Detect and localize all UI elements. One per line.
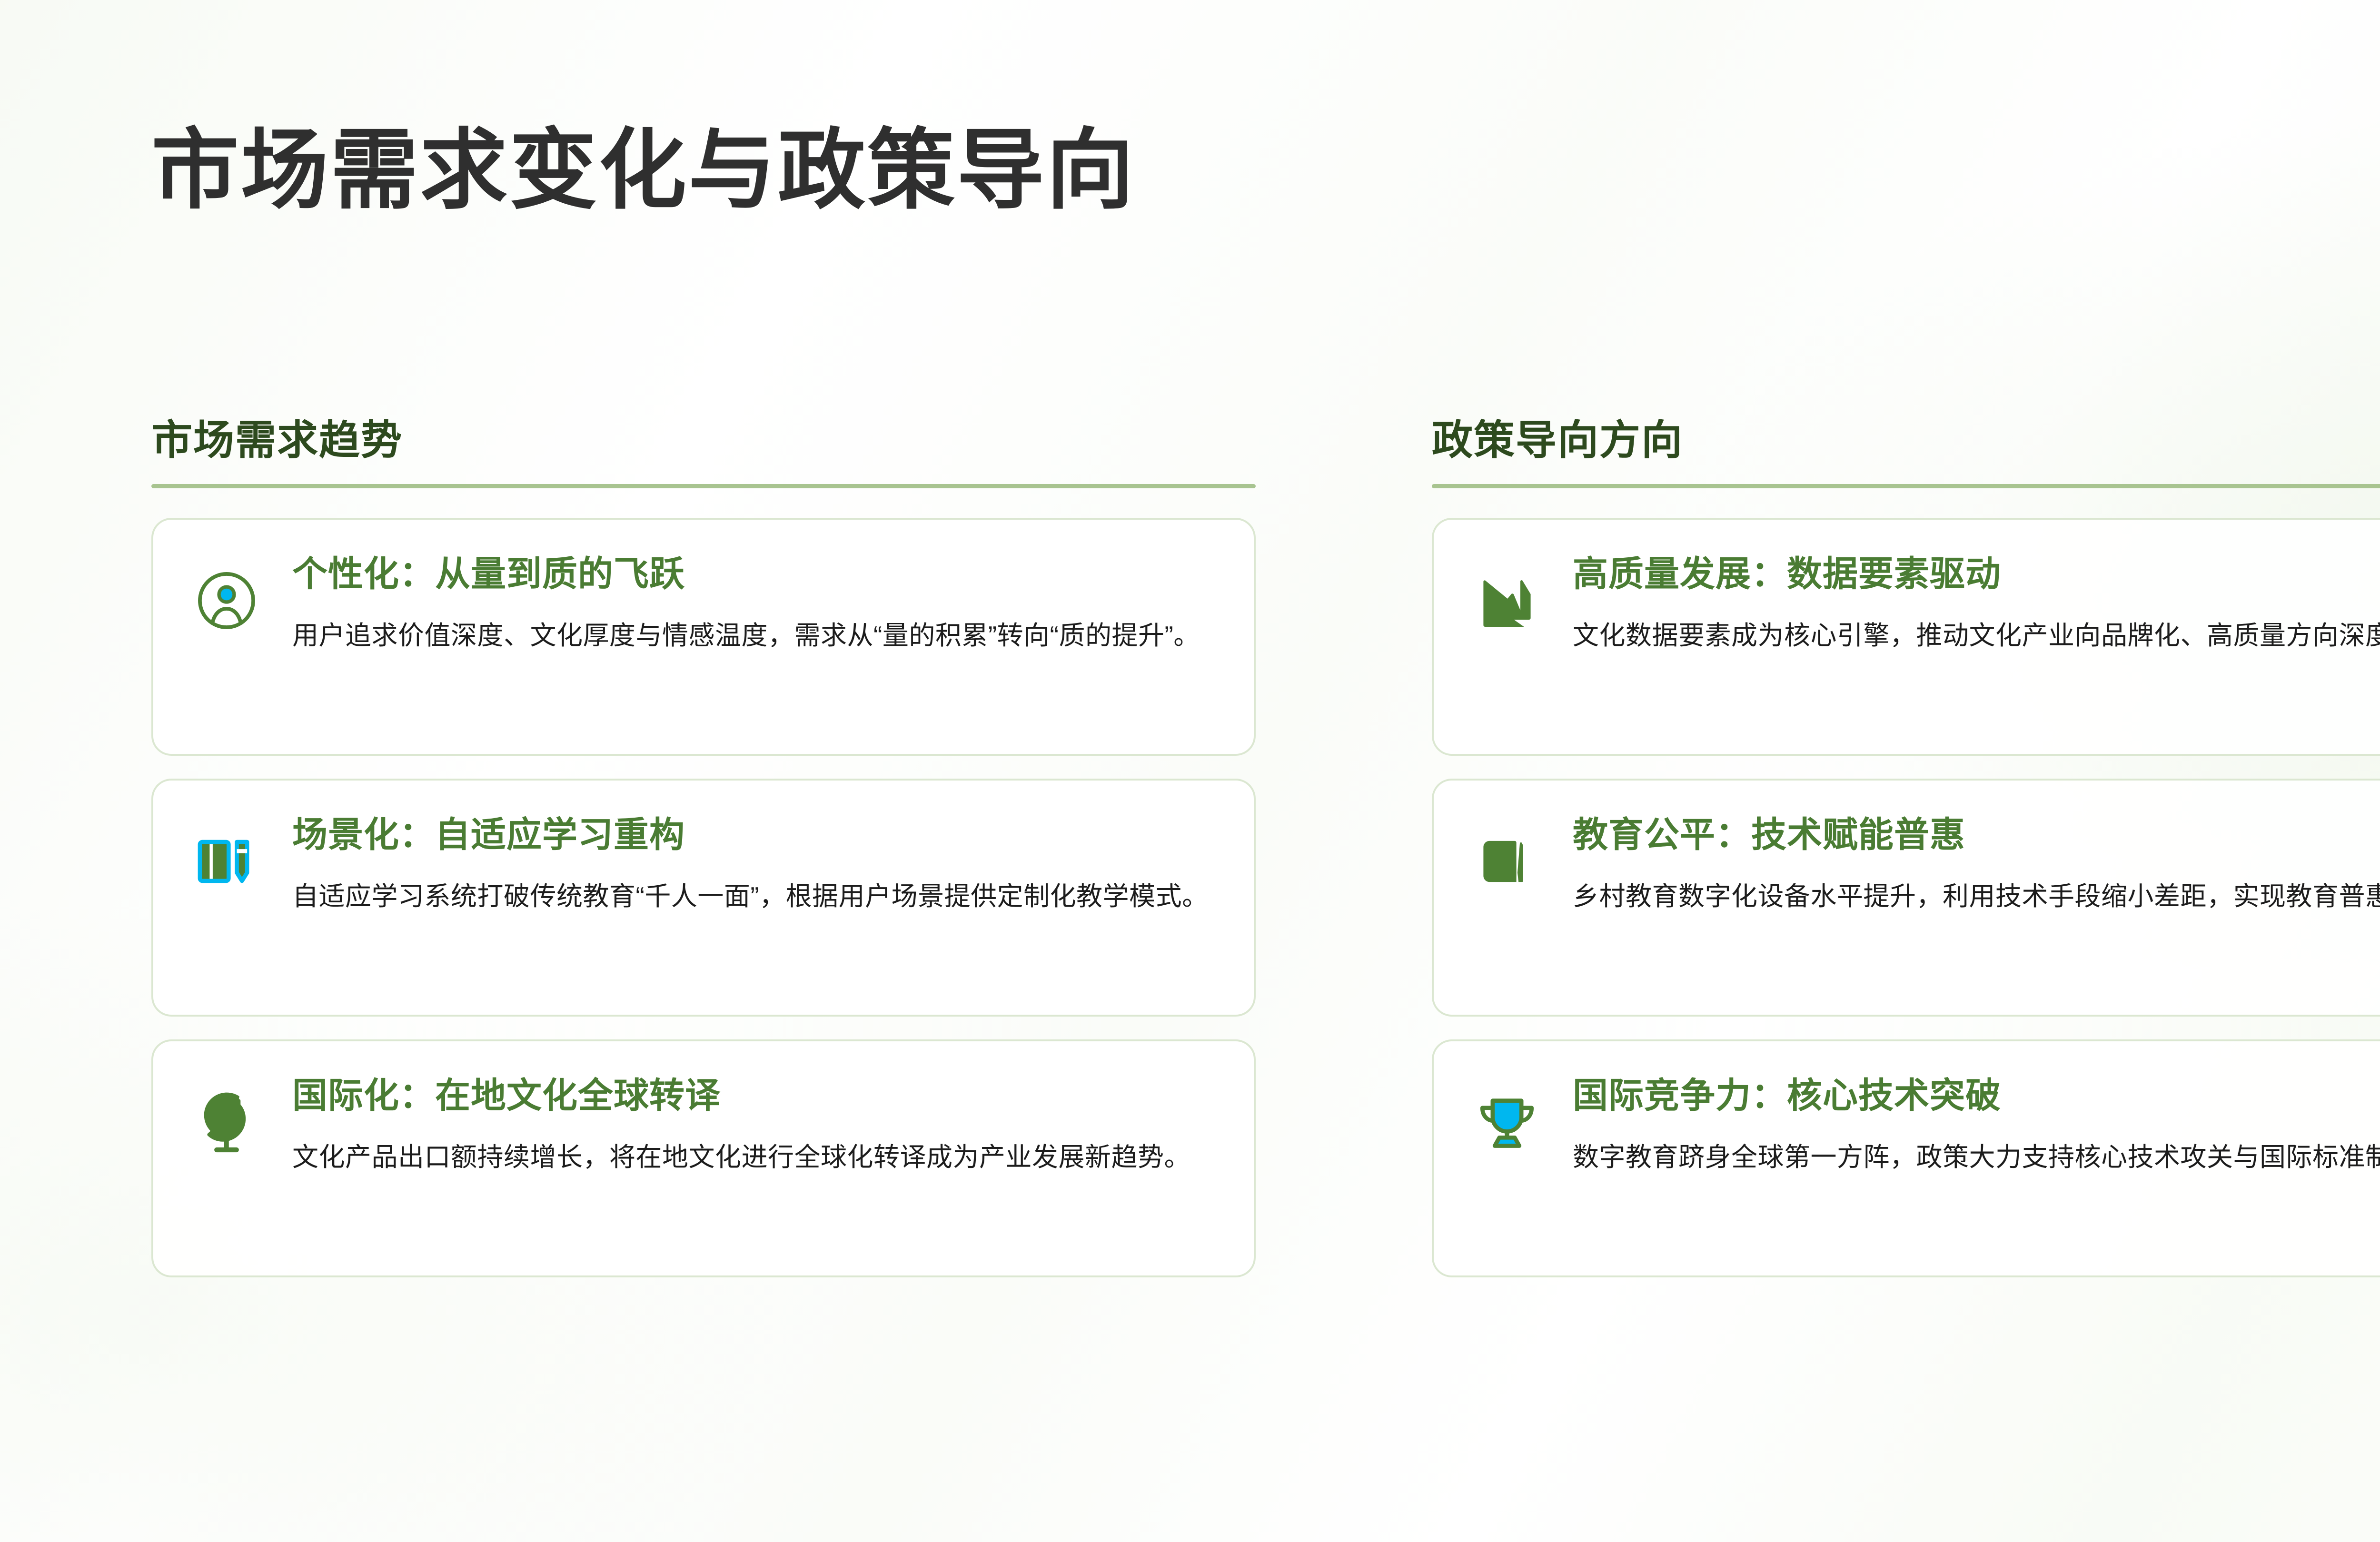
section-divider-right: [1432, 484, 2380, 488]
card-education-equity[interactable]: 教育公平：技术赋能普惠 乡村教育数字化设备水平提升，利用技术手段缩小差距，实现教…: [1432, 779, 2380, 1017]
card-description: 文化数据要素成为核心引擎，推动文化产业向品牌化、高质量方向深度发展。: [1573, 614, 2380, 657]
card-high-quality-development[interactable]: 高质量发展：数据要素驱动 文化数据要素成为核心引擎，推动文化产业向品牌化、高质量…: [1432, 518, 2380, 756]
slide-canvas: 市场需求变化与政策导向 市场需求趋势 个性化：从量到质的: [0, 0, 2380, 1542]
content-columns: 市场需求趋势 个性化：从量到质的飞跃 用户追求价值深度、文化厚度与情感温度，: [151, 418, 2380, 1277]
card-body: 国际化：在地文化全球转译 文化产品出口额持续增长，将在地文化进行全球化转译成为产…: [292, 1072, 1220, 1179]
card-stack-right: 高质量发展：数据要素驱动 文化数据要素成为核心引擎，推动文化产业向品牌化、高质量…: [1432, 518, 2380, 1277]
column-market-demand: 市场需求趋势 个性化：从量到质的飞跃 用户追求价值深度、文化厚度与情感温度，: [151, 418, 1256, 1277]
card-description: 用户追求价值深度、文化厚度与情感温度，需求从“量的积累”转向“质的提升”。: [292, 614, 1220, 657]
card-body: 个性化：从量到质的飞跃 用户追求价值深度、文化厚度与情感温度，需求从“量的积累”…: [292, 550, 1220, 658]
card-title: 高质量发展：数据要素驱动: [1573, 553, 2380, 595]
trophy-icon: [1467, 1082, 1547, 1162]
card-body: 高质量发展：数据要素驱动 文化数据要素成为核心引擎，推动文化产业向品牌化、高质量…: [1573, 550, 2380, 658]
card-body: 教育公平：技术赋能普惠 乡村教育数字化设备水平提升，利用技术手段缩小差距，实现教…: [1573, 811, 2380, 919]
page-title: 市场需求变化与政策导向: [151, 123, 1136, 217]
card-body: 场景化：自适应学习重构 自适应学习系统打破传统教育“千人一面”，根据用户场景提供…: [292, 811, 1220, 919]
column-policy-direction: 政策导向方向 高质量发展：数据要素驱动 文化数据要素成为核心引擎，推动文化产业向…: [1432, 418, 2380, 1277]
card-description: 文化产品出口额持续增长，将在地文化进行全球化转译成为产业发展新趋势。: [292, 1136, 1220, 1179]
card-stack-left: 个性化：从量到质的飞跃 用户追求价值深度、文化厚度与情感温度，需求从“量的积累”…: [151, 518, 1256, 1277]
card-description: 自适应学习系统打破传统教育“千人一面”，根据用户场景提供定制化教学模式。: [292, 875, 1220, 918]
section-divider-left: [151, 484, 1256, 488]
user-circle-icon: [187, 561, 267, 641]
card-title: 国际竞争力：核心技术突破: [1573, 1075, 2380, 1117]
card-title: 教育公平：技术赋能普惠: [1573, 814, 2380, 856]
card-international-competitiveness[interactable]: 国际竞争力：核心技术突破 数字教育跻身全球第一方阵，政策大力支持核心技术攻关与国…: [1432, 1039, 2380, 1277]
card-title: 国际化：在地文化全球转译: [292, 1075, 1220, 1117]
card-personalization[interactable]: 个性化：从量到质的飞跃 用户追求价值深度、文化厚度与情感温度，需求从“量的积累”…: [151, 518, 1256, 756]
card-description: 乡村教育数字化设备水平提升，利用技术手段缩小差距，实现教育普惠与公平。: [1573, 875, 2380, 918]
card-scenario[interactable]: 场景化：自适应学习重构 自适应学习系统打破传统教育“千人一面”，根据用户场景提供…: [151, 779, 1256, 1017]
section-header-market-demand: 市场需求趋势: [151, 418, 1256, 463]
globe-icon: [187, 1082, 267, 1162]
card-title: 场景化：自适应学习重构: [292, 814, 1220, 856]
chart-factory-icon: [1467, 561, 1547, 641]
card-title: 个性化：从量到质的飞跃: [292, 553, 1220, 595]
notebook-icon: [1467, 821, 1547, 901]
card-internationalization[interactable]: 国际化：在地文化全球转译 文化产品出口额持续增长，将在地文化进行全球化转译成为产…: [151, 1039, 1256, 1277]
book-pencil-icon: [187, 821, 267, 901]
card-body: 国际竞争力：核心技术突破 数字教育跻身全球第一方阵，政策大力支持核心技术攻关与国…: [1573, 1072, 2380, 1179]
card-description: 数字教育跻身全球第一方阵，政策大力支持核心技术攻关与国际标准制定。: [1573, 1136, 2380, 1179]
section-header-policy-direction: 政策导向方向: [1432, 418, 2380, 463]
